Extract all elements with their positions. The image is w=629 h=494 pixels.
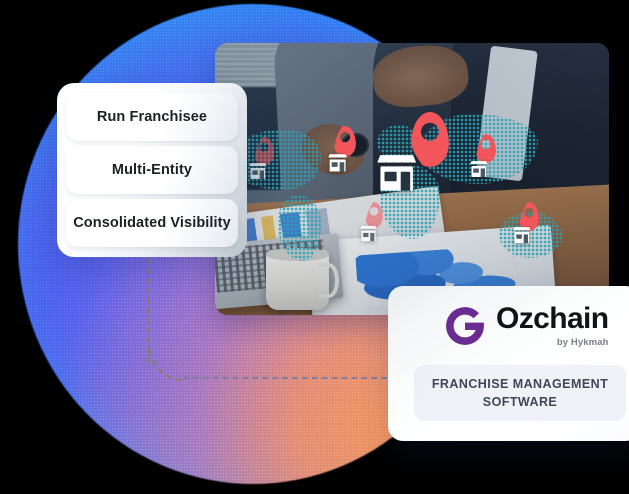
feature-pill-stack: Run Franchisee Multi-Entity Consolidated… bbox=[57, 83, 247, 257]
feature-pill-run-franchisee[interactable]: Run Franchisee bbox=[66, 93, 238, 141]
storefront-icon-east-asia bbox=[469, 159, 489, 179]
storefront-icon-main bbox=[375, 150, 418, 196]
feature-pill-label: Run Franchisee bbox=[97, 109, 207, 125]
storefront-icon-south-america bbox=[359, 224, 378, 243]
storefront-icon-north-america bbox=[327, 152, 348, 174]
feature-pill-multi-entity[interactable]: Multi-Entity bbox=[66, 146, 238, 194]
meeting-photo-card bbox=[215, 43, 609, 315]
storefront-icon-australia bbox=[512, 225, 532, 245]
feature-pill-consolidated-visibility[interactable]: Consolidated Visibility bbox=[66, 199, 238, 247]
brand-logo-row: Ozchain by Hykmah bbox=[410, 304, 618, 348]
brand-name: Ozchain bbox=[496, 304, 609, 334]
map-continent-south-america bbox=[278, 195, 321, 260]
brand-name-block: Ozchain by Hykmah bbox=[496, 304, 609, 348]
world-map-overlay bbox=[215, 43, 609, 315]
feature-pill-label: Consolidated Visibility bbox=[73, 215, 231, 231]
brand-byline: by Hykmah bbox=[557, 337, 609, 348]
product-category-badge: FRANCHISE MANAGEMENT SOFTWARE bbox=[414, 365, 626, 421]
brand-card: Ozchain by Hykmah FRANCHISE MANAGEMENT S… bbox=[388, 286, 629, 441]
ozchain-swirl-logo-icon bbox=[444, 305, 486, 347]
hero-illustration: Run Franchisee Multi-Entity Consolidated… bbox=[0, 0, 629, 494]
storefront-icon-west bbox=[248, 161, 268, 181]
feature-pill-label: Multi-Entity bbox=[112, 162, 192, 178]
